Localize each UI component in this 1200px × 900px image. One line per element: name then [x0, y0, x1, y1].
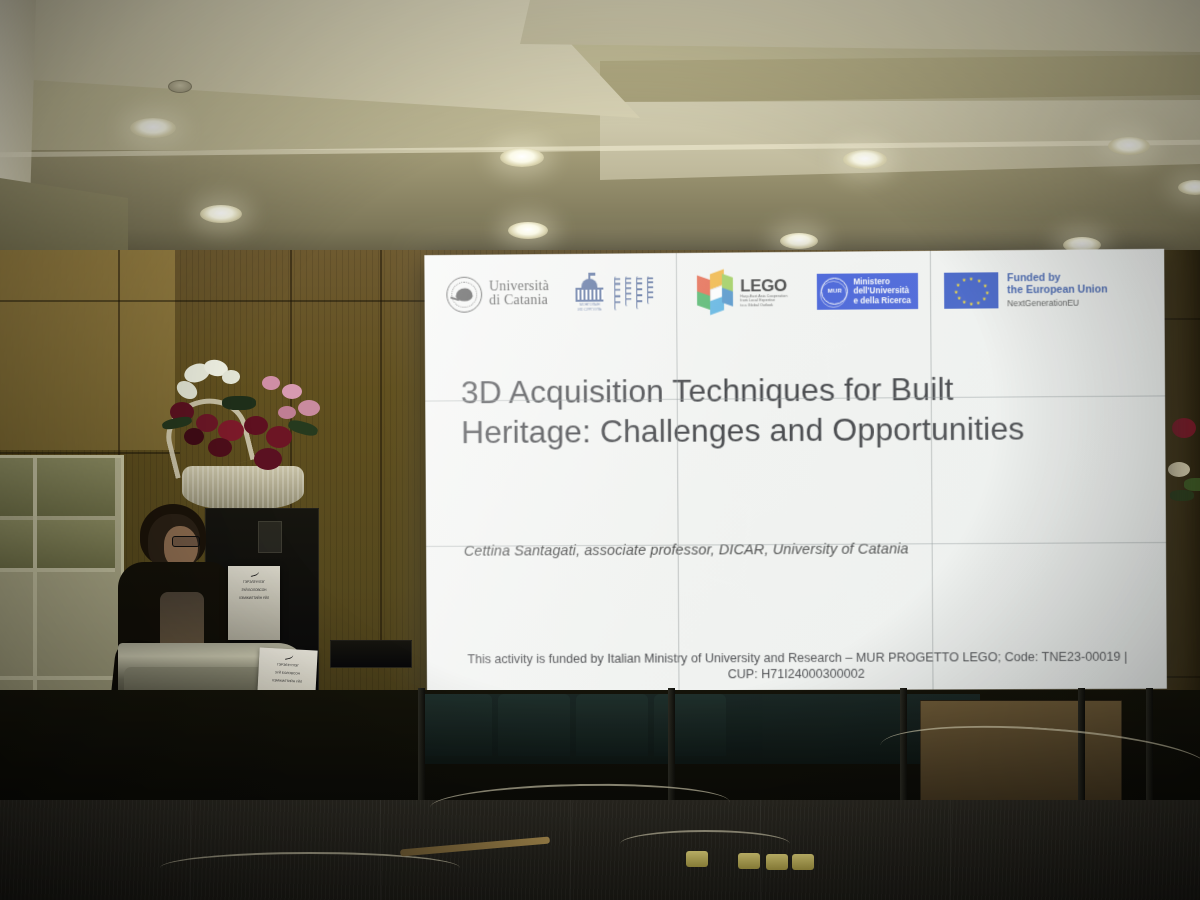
mur-line1: Ministero [853, 277, 911, 287]
slide-title-line2: Heritage: Challenges and Opportunities [461, 408, 1121, 452]
pink-blossom [262, 376, 280, 390]
lego-wordmark: LEGO [740, 277, 787, 294]
unict-line2: di Catania [489, 294, 549, 309]
slide-funding-line1: This activity is funded by Italian Minis… [431, 649, 1165, 668]
foliage [1170, 490, 1194, 501]
wood-wall-lit-area [0, 250, 175, 450]
wall-seam [118, 250, 120, 460]
door-glass-panel [0, 520, 115, 568]
floor-cable [160, 852, 460, 884]
mur-line2: dell'Università [853, 286, 911, 296]
door-mullion [0, 676, 115, 680]
rose [266, 426, 292, 448]
eu-line2: the European Union [1007, 283, 1107, 296]
ceiling-downlight [130, 118, 176, 138]
mongolia-caption-line2: ИХ СУРГУУЛЬ [575, 308, 605, 312]
wall-seam [1160, 318, 1200, 320]
ceiling-band-right [600, 55, 1200, 103]
notice-poster-wall: ГЭРЭЛЗҮҮЛЭГ ЗҮЙ БОЛОВСОН ХЭМЖИЛТИЙН ҮЙЛ [228, 566, 280, 640]
color-cube-icon [695, 271, 735, 313]
foliage [1184, 478, 1200, 491]
pink-blossom [278, 406, 296, 419]
pink-blossom [282, 384, 302, 399]
ceiling-downlight [1108, 137, 1150, 155]
mixer-unit [330, 640, 412, 668]
sponsor-logo-row: Università di Catania МОНГОЛЫН ИХ СУРГУУ… [446, 261, 1146, 323]
floor-tape-marker [766, 854, 788, 870]
logo-mur: MUR Ministero dell'Università e della Ri… [817, 273, 918, 309]
ceiling-downlight [200, 205, 242, 223]
conference-photo-scene: Università di Catania МОНГОЛЫН ИХ СУРГУУ… [0, 0, 1200, 900]
eu-flag-icon: ★ ★ ★ ★ ★ ★ ★ ★ ★ ★ ★ ★ [944, 272, 998, 309]
wall-seam [380, 250, 382, 650]
swoosh-icon [283, 652, 293, 660]
wall-seam [0, 452, 180, 454]
rose [184, 428, 204, 445]
logo-lego-project: LEGO Harp-East Asia Cooperation from Loc… [695, 271, 787, 314]
unict-wordmark: Università di Catania [489, 280, 549, 309]
pink-blossom [1168, 462, 1190, 477]
lego-tagline-3: to a Global Outlook [740, 303, 787, 308]
led-video-wall[interactable]: Università di Catania МОНГОЛЫН ИХ СУРГУУ… [424, 249, 1167, 692]
ceiling-downlight [843, 150, 887, 169]
eyeglasses-icon [172, 536, 200, 547]
eu-line3: NextGenerationEU [1007, 297, 1107, 309]
slide-title: 3D Acquisition Techniques for Built Heri… [461, 368, 1121, 452]
mur-circle-icon: MUR [821, 278, 848, 305]
poster-line3: ХЭМЖИЛТИЙН ҮЙЛ [228, 594, 280, 602]
ceiling-beam-edge [0, 0, 36, 205]
slide-funding-line2: CUP: H71I24000300002 [431, 665, 1165, 684]
slide-title-line1: 3D Acquisition Techniques for Built [461, 368, 1121, 413]
floor-tape-marker [738, 853, 760, 869]
parliament-building-icon [575, 276, 605, 302]
swoosh-icon [249, 569, 259, 577]
door-glass-panel [0, 458, 115, 516]
wall-seam [0, 300, 430, 302]
ceiling [0, 0, 1200, 262]
mongolian-vertical-script [615, 276, 654, 310]
rose [1172, 418, 1196, 438]
ceiling-downlight [500, 148, 544, 167]
slide-funding-note: This activity is funded by Italian Minis… [431, 649, 1165, 684]
door-mullion [0, 568, 115, 572]
logo-mongolia-university: МОНГОЛЫН ИХ СУРГУУЛЬ [575, 275, 654, 312]
rose [254, 448, 282, 470]
rose [244, 416, 268, 435]
ceiling-downlight [780, 233, 818, 249]
mur-line3: e della Ricerca [853, 296, 911, 306]
flower-arrangement-left [160, 360, 335, 510]
poster-line1: ГЭРЭЛЗҮҮЛЭГ [228, 578, 280, 586]
ceiling-downlight [508, 222, 548, 239]
logo-unict: Università di Catania [446, 276, 549, 313]
mur-abbr: MUR [828, 289, 842, 295]
floor-tape-marker [792, 854, 814, 870]
presentation-slide: Università di Catania МОНГОЛЫН ИХ СУРГУУ… [424, 249, 1167, 692]
truss-upright [418, 688, 425, 818]
logo-eu-funding: ★ ★ ★ ★ ★ ★ ★ ★ ★ ★ ★ ★ Funded by [944, 271, 1108, 309]
floor-tape-marker [686, 851, 708, 867]
lily-petal [221, 369, 240, 385]
foliage [222, 396, 256, 410]
mongolia-caption-line1: МОНГОЛЫН [575, 303, 605, 307]
eu-line1: Funded by [1007, 271, 1107, 284]
flower-arrangement-right [1168, 410, 1200, 520]
smoke-detector-icon [168, 80, 192, 93]
poster-line3: ХЭМЖИЛТИЙН ҮЙЛ [258, 676, 316, 687]
poster-line2: ЗҮЙ БОЛОВСОН [228, 586, 280, 594]
pink-blossom [298, 400, 320, 416]
elephant-crest-icon [446, 277, 482, 313]
rose [208, 438, 232, 457]
